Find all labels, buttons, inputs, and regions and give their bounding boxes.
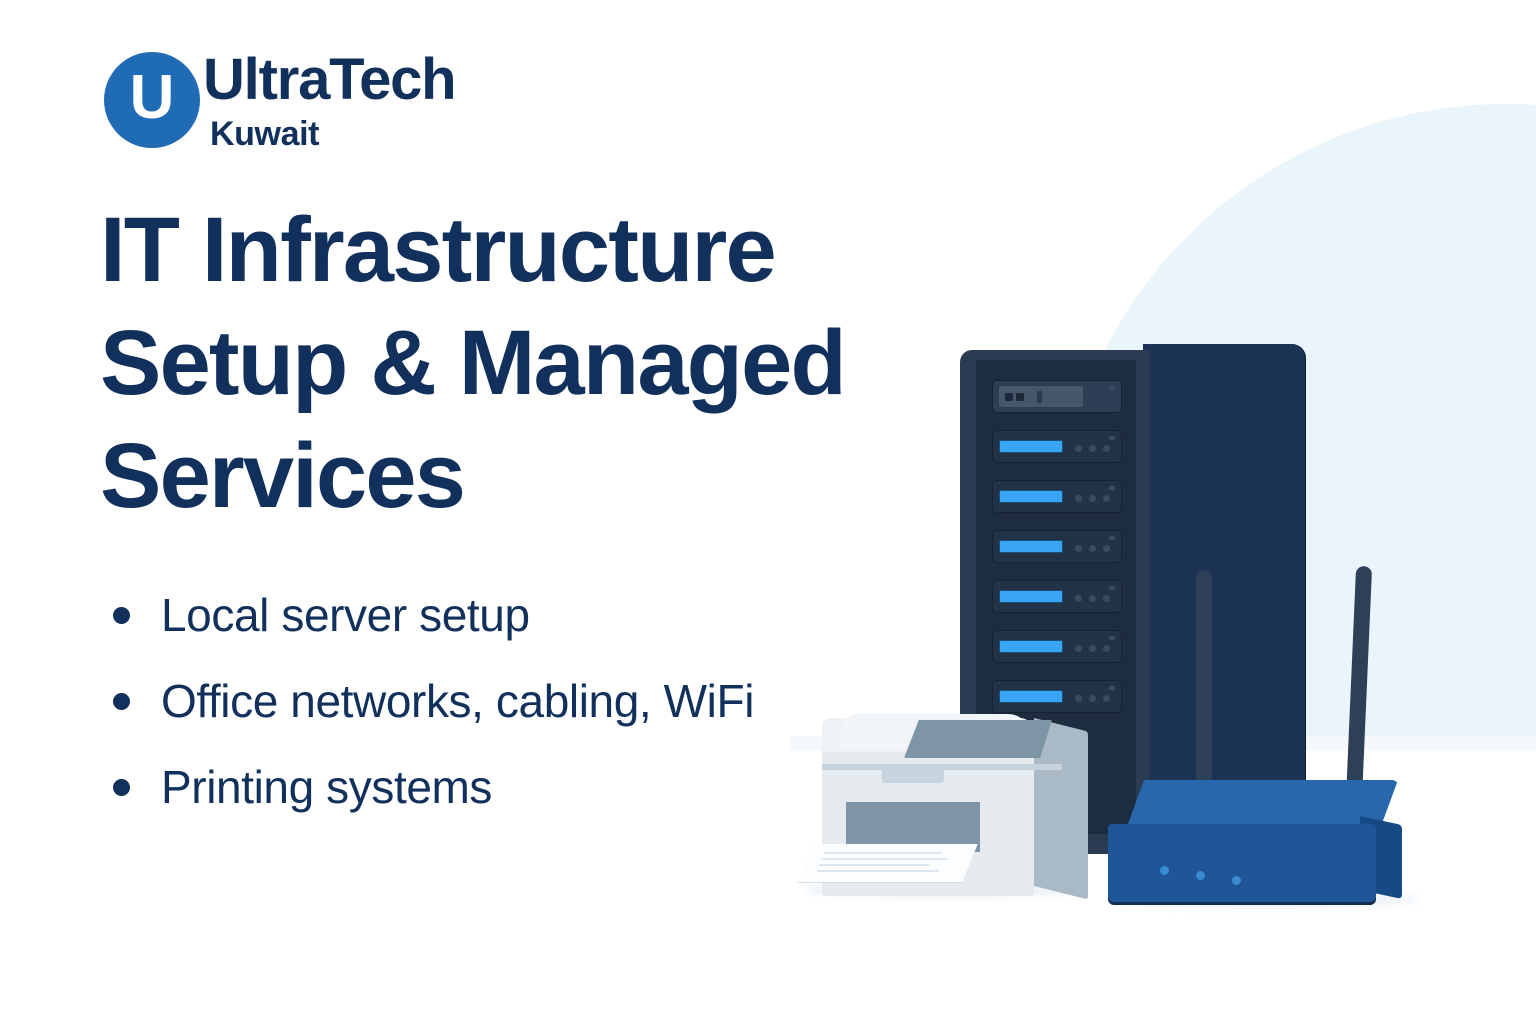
router-led-icon bbox=[1196, 871, 1205, 880]
server-led-bar-icon bbox=[1000, 691, 1062, 702]
brand-region: Kuwait bbox=[210, 117, 319, 151]
server-led-bar-icon bbox=[1000, 591, 1062, 602]
list-item-label: Office networks, cabling, WiFi bbox=[161, 678, 754, 724]
server-drive-bay bbox=[992, 430, 1122, 463]
server-led-bar-icon bbox=[1000, 491, 1062, 502]
server-button-icon bbox=[1016, 393, 1024, 401]
server-drive-bay bbox=[992, 530, 1122, 563]
server-indicator-dots-icon bbox=[1075, 545, 1110, 552]
list-item-label: Local server setup bbox=[161, 592, 530, 638]
router-led-icon bbox=[1232, 876, 1241, 885]
printer-handle bbox=[882, 770, 944, 783]
server-bay-tick-icon bbox=[1109, 386, 1115, 390]
bullet-dot-icon bbox=[113, 607, 130, 624]
server-slot-icon bbox=[1037, 391, 1042, 403]
logo-letter: U bbox=[104, 52, 200, 148]
server-led-bar-icon bbox=[1000, 441, 1062, 452]
server-led-bar-icon bbox=[1000, 641, 1062, 652]
server-led-bar-icon bbox=[1000, 541, 1062, 552]
server-bay-tick-icon bbox=[1109, 536, 1115, 540]
server-indicator-dots-icon bbox=[1075, 645, 1110, 652]
server-indicator-dots-icon bbox=[1075, 595, 1110, 602]
printer-top-surface bbox=[840, 714, 1030, 750]
server-indicator-dots-icon bbox=[1075, 445, 1110, 452]
server-indicator-dots-icon bbox=[1075, 495, 1110, 502]
server-button-icon bbox=[1005, 393, 1013, 401]
server-indicator-dots-icon bbox=[1075, 695, 1110, 702]
hardware-illustration bbox=[760, 300, 1536, 980]
server-control-bay bbox=[992, 380, 1122, 413]
printer-output-recess bbox=[904, 720, 1052, 758]
router-antenna-right-icon bbox=[1346, 566, 1372, 798]
list-item-label: Printing systems bbox=[161, 764, 492, 810]
bullet-dot-icon bbox=[113, 779, 130, 796]
router-front-face bbox=[1108, 824, 1376, 902]
page-title-line-1: IT Infrastructure bbox=[100, 194, 920, 307]
printer-icon bbox=[798, 706, 1098, 906]
server-drive-bay bbox=[992, 480, 1122, 513]
router-led-icon bbox=[1160, 866, 1169, 875]
server-bay-tick-icon bbox=[1109, 436, 1115, 440]
server-drive-bay bbox=[992, 630, 1122, 663]
bullet-dot-icon bbox=[113, 693, 130, 710]
router-antenna-left-icon bbox=[1196, 570, 1212, 802]
server-display-panel bbox=[999, 386, 1083, 407]
printer-paper-sheet bbox=[798, 844, 977, 882]
server-drive-bay bbox=[992, 580, 1122, 613]
server-bay-tick-icon bbox=[1109, 486, 1115, 490]
brand-name: UltraTech bbox=[203, 51, 455, 109]
wifi-router-icon bbox=[1108, 568, 1438, 908]
promo-banner: U UltraTech Kuwait IT Infrastructure Set… bbox=[0, 0, 1536, 1024]
brand-logo[interactable]: U UltraTech Kuwait bbox=[104, 52, 524, 162]
